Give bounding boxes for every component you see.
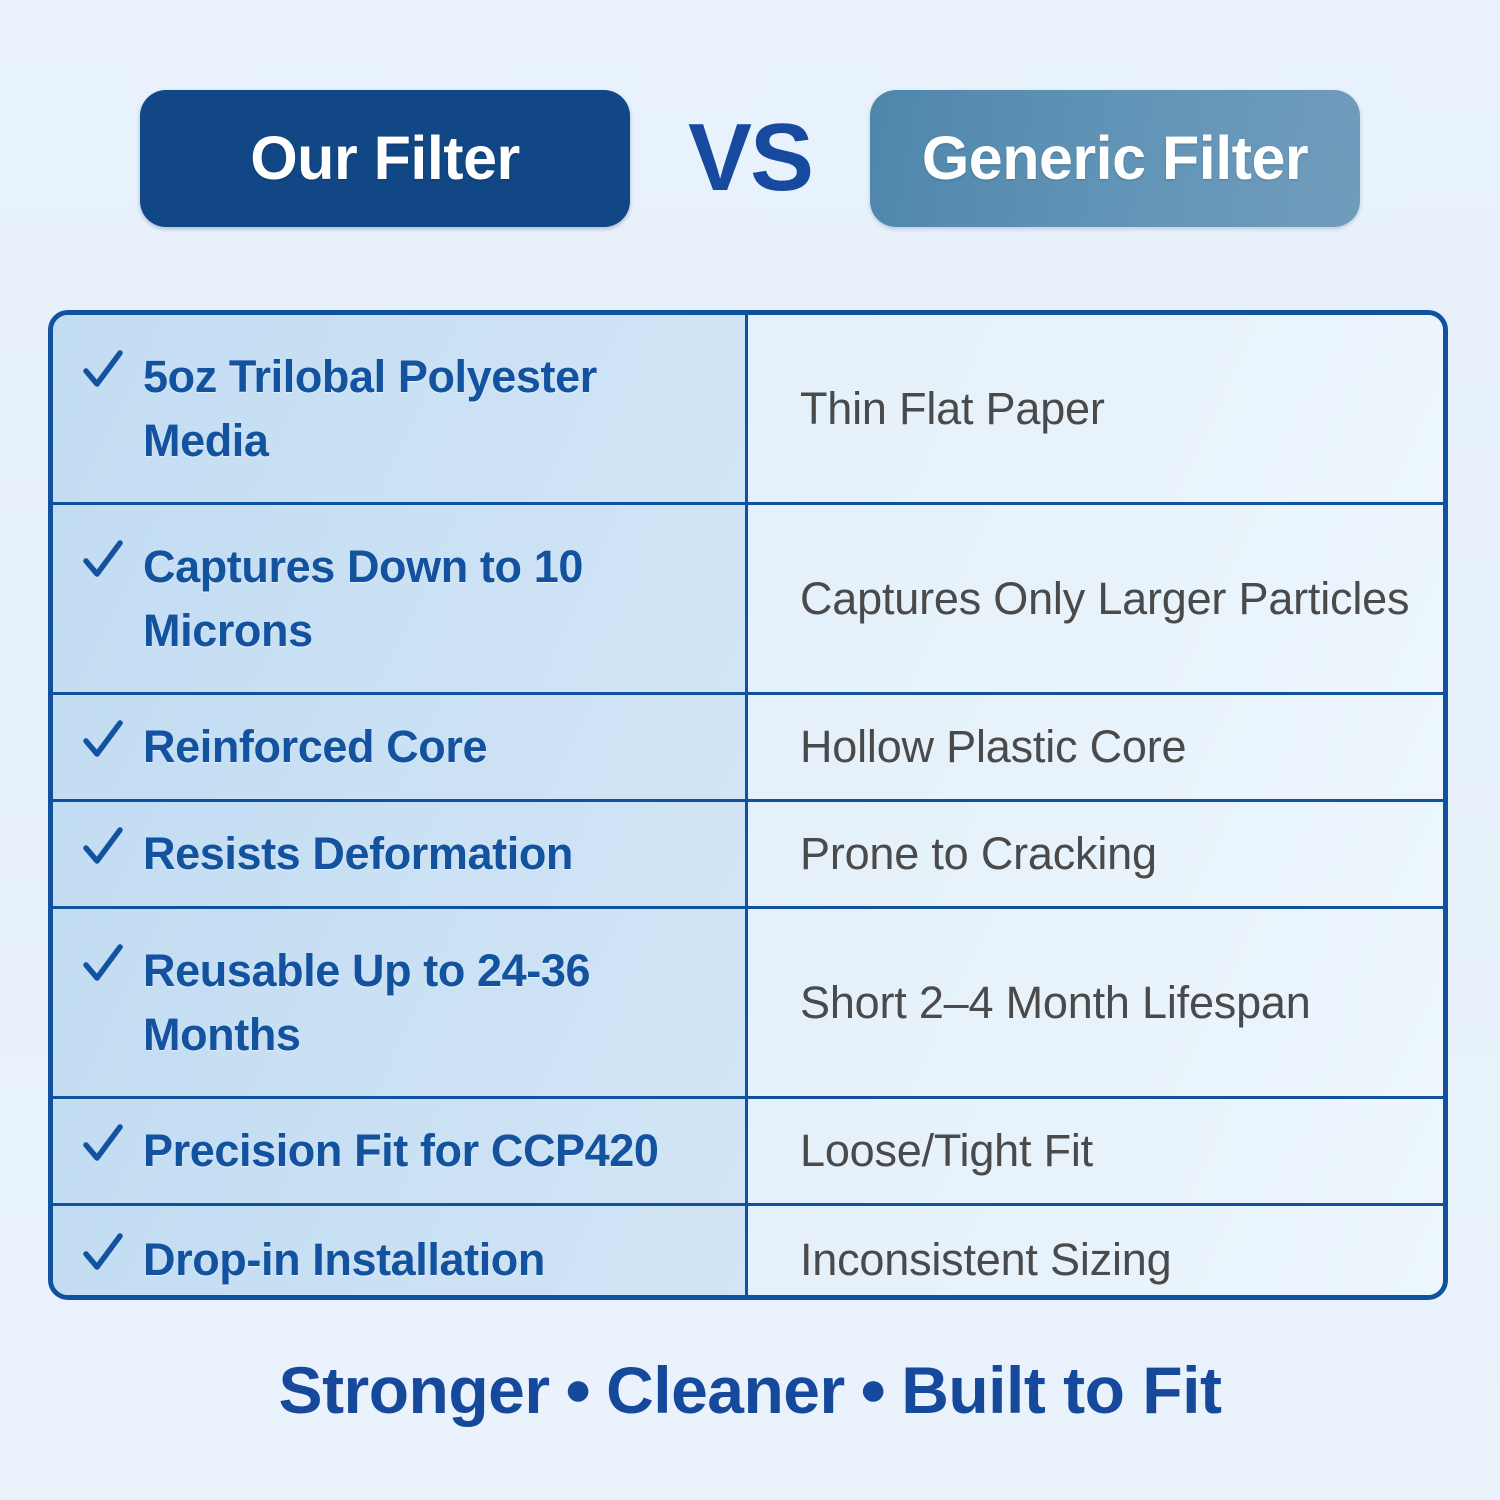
ours-cell: Reinforced Core	[53, 695, 748, 799]
bullet-separator-icon: ●	[564, 1362, 593, 1417]
table-row: Resists Deformation Prone to Cracking	[53, 802, 1443, 909]
bullet-separator-icon: ●	[859, 1362, 888, 1417]
checkmark-icon	[83, 717, 123, 763]
ours-feature-label: Reusable Up to 24-36 Months	[143, 939, 723, 1067]
table-row: Drop-in Installation Inconsistent Sizing	[53, 1206, 1443, 1300]
generic-cell: Thin Flat Paper	[748, 315, 1443, 502]
tagline-part-2: Cleaner	[606, 1353, 845, 1427]
checkmark-icon	[83, 941, 123, 987]
vs-label: VS	[630, 110, 870, 206]
ours-feature-label: Resists Deformation	[143, 822, 573, 886]
ours-cell: Captures Down to 10 Microns	[53, 505, 748, 692]
generic-cell: Captures Only Larger Particles	[748, 505, 1443, 692]
table-row: Precision Fit for CCP420 Loose/Tight Fit	[53, 1099, 1443, 1206]
checkmark-icon	[83, 347, 123, 393]
generic-badge: Generic Filter	[870, 90, 1360, 227]
ours-cell: Drop-in Installation	[53, 1206, 748, 1300]
ours-cell: Precision Fit for CCP420	[53, 1099, 748, 1203]
ours-cell: 5oz Trilobal Polyester Media	[53, 315, 748, 502]
ours-feature-label: 5oz Trilobal Polyester Media	[143, 345, 723, 473]
generic-cell: Prone to Cracking	[748, 802, 1443, 906]
ours-feature-label: Precision Fit for CCP420	[143, 1119, 659, 1183]
generic-cell: Inconsistent Sizing	[748, 1206, 1443, 1300]
generic-cell: Short 2–4 Month Lifespan	[748, 909, 1443, 1096]
ours-feature-label: Drop-in Installation	[143, 1228, 545, 1292]
ours-feature-label: Reinforced Core	[143, 715, 487, 779]
table-row: 5oz Trilobal Polyester Media Thin Flat P…	[53, 315, 1443, 505]
checkmark-icon	[83, 537, 123, 583]
ours-cell: Resists Deformation	[53, 802, 748, 906]
checkmark-icon	[83, 824, 123, 870]
ours-badge: Our Filter	[140, 90, 630, 227]
checkmark-icon	[83, 1121, 123, 1167]
generic-cell: Loose/Tight Fit	[748, 1099, 1443, 1203]
comparison-infographic: Our Filter VS Generic Filter 5oz Triloba…	[0, 0, 1500, 1500]
footer-tagline: Stronger●Cleaner●Built to Fit	[0, 1352, 1500, 1428]
comparison-table: 5oz Trilobal Polyester Media Thin Flat P…	[48, 310, 1448, 1300]
tagline-part-3: Built to Fit	[901, 1353, 1221, 1427]
table-row: Captures Down to 10 Microns Captures Onl…	[53, 505, 1443, 695]
table-row: Reinforced Core Hollow Plastic Core	[53, 695, 1443, 802]
ours-feature-label: Captures Down to 10 Microns	[143, 535, 723, 663]
tagline-part-1: Stronger	[279, 1353, 550, 1427]
header-row: Our Filter VS Generic Filter	[0, 88, 1500, 228]
table-row: Reusable Up to 24-36 Months Short 2–4 Mo…	[53, 909, 1443, 1099]
generic-cell: Hollow Plastic Core	[748, 695, 1443, 799]
checkmark-icon	[83, 1230, 123, 1276]
ours-cell: Reusable Up to 24-36 Months	[53, 909, 748, 1096]
